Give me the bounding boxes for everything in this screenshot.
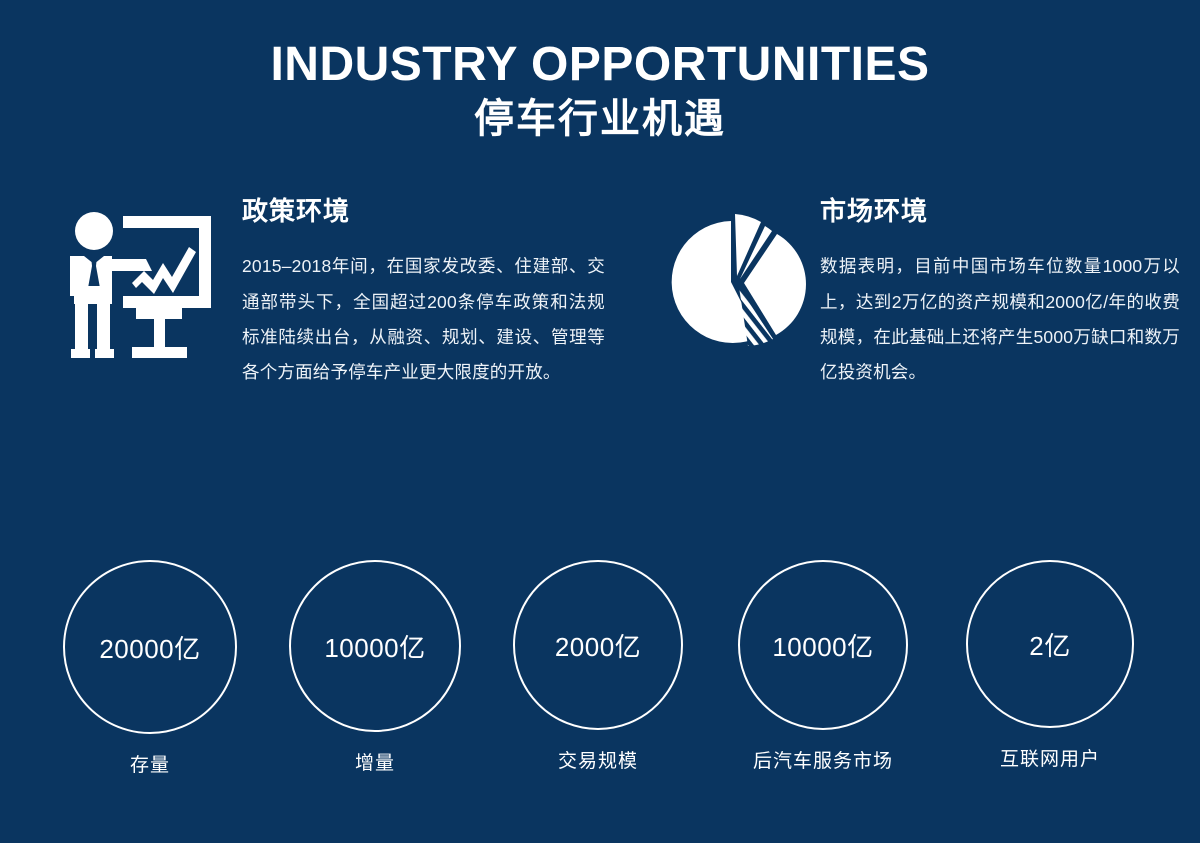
policy-heading: 政策环境 <box>242 196 605 227</box>
stat-label-jiaoyiguimo: 交易规模 <box>513 746 683 773</box>
stat-circle-hulianwang: 2亿 <box>966 560 1134 728</box>
market-text-block: 市场环境 数据表明，目前中国市场车位数量1000万以上，达到2万亿的资产规模和2… <box>820 196 1180 391</box>
stat-circle-row: 20000亿 存量 10000亿 增量 2000亿 交易规模 10000亿 后汽… <box>0 560 1200 820</box>
feature-sections: 政策环境 2015–2018年间，在国家发改委、住建部、交通部带头下，全国超过2… <box>0 196 1200 496</box>
stat-item-jiaoyiguimo: 2000亿 交易规模 <box>513 560 683 773</box>
stat-circle-jiaoyiguimo: 2000亿 <box>513 560 683 730</box>
exploded-pie-chart-icon <box>655 204 815 364</box>
presenter-chart-board-icon <box>60 204 220 364</box>
stat-value-houqiche: 10000亿 <box>772 627 873 664</box>
infographic-page: INDUSTRY OPPORTUNITIES 停车行业机遇 <box>0 0 1200 843</box>
policy-text-block: 政策环境 2015–2018年间，在国家发改委、住建部、交通部带头下，全国超过2… <box>242 196 605 391</box>
stat-item-houqiche: 10000亿 后汽车服务市场 <box>738 560 908 773</box>
stat-circle-zengliang: 10000亿 <box>289 560 461 732</box>
stat-item-hulianwang: 2亿 互联网用户 <box>966 560 1134 771</box>
stat-label-cunliang: 存量 <box>62 750 238 777</box>
stat-item-zengliang: 10000亿 增量 <box>289 560 461 775</box>
market-heading: 市场环境 <box>820 196 1180 227</box>
stat-item-cunliang: 20000亿 存量 <box>62 560 238 777</box>
stat-circle-houqiche: 10000亿 <box>738 560 908 730</box>
stat-value-zengliang: 10000亿 <box>324 628 425 665</box>
stat-value-cunliang: 20000亿 <box>99 629 200 666</box>
stat-value-hulianwang: 2亿 <box>1029 626 1070 663</box>
market-paragraph: 数据表明，目前中国市场车位数量1000万以上，达到2万亿的资产规模和2000亿/… <box>820 249 1180 390</box>
page-header: INDUSTRY OPPORTUNITIES 停车行业机遇 <box>0 0 1200 144</box>
stat-label-houqiche: 后汽车服务市场 <box>738 746 908 773</box>
policy-paragraph: 2015–2018年间，在国家发改委、住建部、交通部带头下，全国超过200条停车… <box>242 249 605 390</box>
stat-circle-cunliang: 20000亿 <box>63 560 237 734</box>
page-title-english: INDUSTRY OPPORTUNITIES <box>0 40 1200 90</box>
stat-label-zengliang: 增量 <box>289 748 461 775</box>
stat-label-hulianwang: 互联网用户 <box>966 744 1134 771</box>
page-title-chinese: 停车行业机遇 <box>0 94 1200 144</box>
stat-value-jiaoyiguimo: 2000亿 <box>555 627 641 664</box>
